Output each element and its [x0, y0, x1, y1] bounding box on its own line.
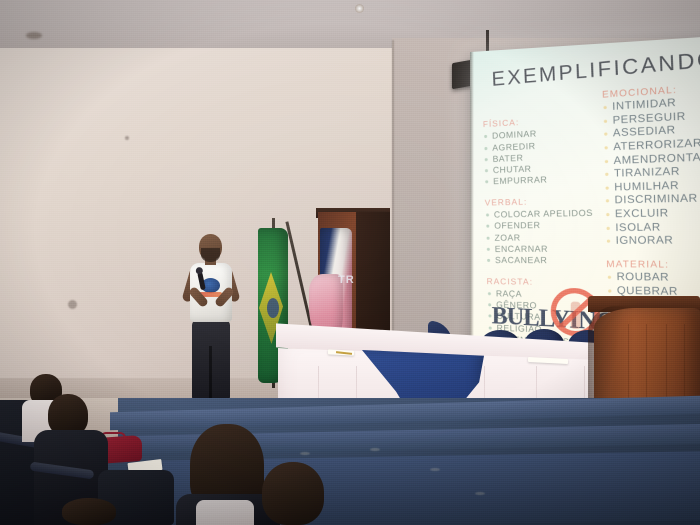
wall-corner: [392, 40, 394, 370]
floor-debris: [430, 468, 440, 471]
slide-group-material: MATERIAL: ROUBAR QUEBRAR: [606, 258, 700, 300]
audience-head: [262, 462, 324, 525]
audience-shirt: [196, 500, 254, 525]
slide-item: ENCARNAR: [486, 243, 609, 255]
floor-debris: [300, 452, 310, 455]
floor-debris: [475, 492, 485, 495]
ceiling-vent-icon: [26, 32, 42, 39]
screen-left-edge: [470, 52, 474, 343]
presenter: [182, 234, 240, 412]
slide-group-heading: RACISTA:: [487, 276, 610, 289]
auditorium-photo: EXEMPLIFICANDO FÍSICA: DOMINAR AGREDIR B…: [0, 0, 700, 525]
ceiling-light-icon: [355, 4, 364, 13]
slide-item: ISOLAR: [605, 221, 700, 236]
slide-group-heading: VERBAL:: [485, 194, 608, 208]
slide-group-heading: MATERIAL:: [606, 258, 700, 271]
slide-group-fisica: FÍSICA: DOMINAR AGREDIR BATER CHUTAR EMP…: [483, 112, 607, 188]
slide-item: SACANEAR: [486, 255, 609, 267]
slide-group-verbal: VERBAL: COLOCAR APELIDOS OFENDER ZOAR EN…: [485, 194, 609, 267]
presenter-beard: [201, 248, 220, 262]
presenter-legs: [192, 320, 230, 400]
wall-mark-icon: [68, 300, 77, 309]
slide-item: ZOAR: [485, 231, 608, 244]
flag-brazil-globe: [267, 298, 279, 318]
slide-group-emocional: EMOCIONAL: INTIMIDAR PERSEGUIR ASSEDIAR …: [602, 82, 700, 249]
slide-item: IGNORAR: [606, 235, 700, 249]
audience-head: [62, 498, 116, 525]
slide-item: EXCLUIR: [605, 207, 700, 222]
floor-debris: [370, 448, 380, 451]
flag-institutional-text: TR: [338, 274, 355, 286]
wood-panel-shadow: [356, 212, 390, 334]
wall-mark-icon: [125, 136, 129, 140]
